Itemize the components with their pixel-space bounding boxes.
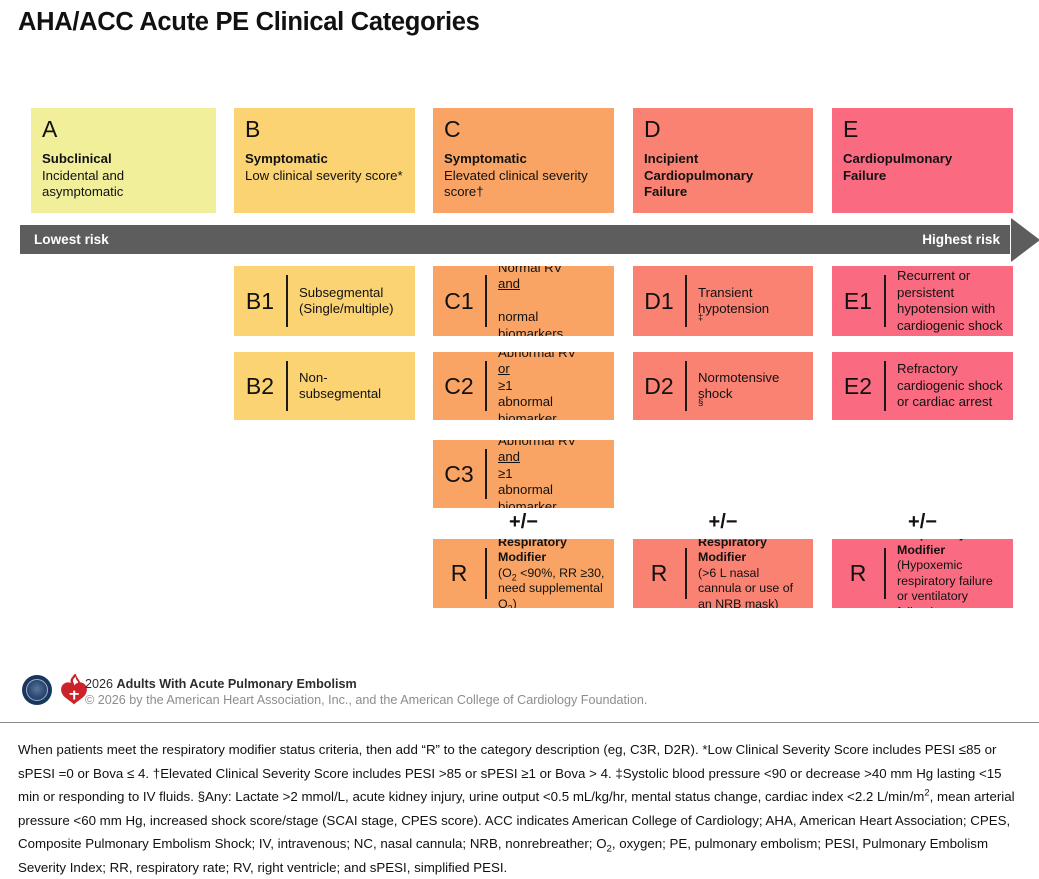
subcategory-text-c2: Abnormal RV or ≥1abnormal biomarker	[487, 352, 614, 420]
subcategory-c3: C3 Abnormal RV and ≥1abnormal biomarker	[433, 440, 614, 508]
category-sub-a: Incidental and asymptomatic	[42, 168, 205, 201]
subcategory-text-e1: Recurrent orpersistenthypotension withca…	[886, 266, 1013, 336]
category-letter-e: E	[843, 117, 1002, 142]
respiratory-modifier-d: R Respiratory Modifier (>6 L nasal cannu…	[633, 539, 813, 608]
subcategory-text-e2: Refractorycardiogenic shockor cardiac ar…	[886, 352, 1013, 420]
subcategory-code-e2: E2	[832, 352, 884, 420]
subcategory-c2: C2 Abnormal RV or ≥1abnormal biomarker	[433, 352, 614, 420]
page-title: AHA/ACC Acute PE Clinical Categories	[18, 8, 480, 37]
modifier-detail-d: (>6 L nasal cannula or use of an NRB mas…	[698, 566, 805, 608]
category-card-c: C Symptomatic Elevated clinical severity…	[433, 108, 614, 213]
subcategory-c1: C1 Normal RV andnormal biomarkers	[433, 266, 614, 336]
subcategory-text-b2: Non-subsegmental	[288, 352, 415, 420]
subcategory-e2: E2 Refractorycardiogenic shockor cardiac…	[832, 352, 1013, 420]
modifier-code-d: R	[633, 539, 685, 608]
risk-label-lowest: Lowest risk	[20, 225, 109, 254]
risk-gradient-arrow: Lowest risk Highest risk	[20, 225, 1010, 254]
category-heading-c: Symptomatic	[444, 151, 603, 168]
modifier-text-d: Respiratory Modifier (>6 L nasal cannula…	[687, 539, 813, 608]
subcategory-b1: B1 Subsegmental(Single/multiple)	[234, 266, 415, 336]
plus-minus-c: +/−	[433, 511, 614, 533]
subcategory-code-c1: C1	[433, 266, 485, 336]
modifier-code-c: R	[433, 539, 485, 608]
modifier-detail-e: (Hypoxemic respiratory failure or ventil…	[897, 558, 1005, 608]
category-heading-d: Incipient Cardiopulmonary Failure	[644, 151, 764, 201]
modifier-code-e: R	[832, 539, 884, 608]
category-heading-a: Subclinical	[42, 151, 205, 168]
category-sub-c: Elevated clinical severity score†	[444, 168, 603, 201]
subcategory-text-c1: Normal RV andnormal biomarkers	[487, 266, 614, 336]
category-card-a: A Subclinical Incidental and asymptomati…	[31, 108, 216, 213]
category-sub-b: Low clinical severity score*	[245, 168, 404, 185]
footer-text: 2026 Adults With Acute Pulmonary Embolis…	[85, 676, 647, 708]
footer-logos	[22, 673, 92, 707]
subcategory-d1: D1 Transienthypotension‡	[633, 266, 813, 336]
modifier-title-c: Respiratory Modifier	[498, 539, 606, 566]
footnotes: When patients meet the respiratory modif…	[18, 738, 1023, 879]
subcategory-code-c3: C3	[433, 440, 485, 508]
modifier-text-e: Respiratory Modifier (Hypoxemic respirat…	[886, 539, 1013, 608]
aha-heart-torch-logo-icon	[60, 674, 88, 711]
respiratory-modifier-e: R Respiratory Modifier (Hypoxemic respir…	[832, 539, 1013, 608]
footer-year: 2026	[85, 677, 113, 691]
footer-copyright: © 2026 by the American Heart Association…	[85, 692, 647, 708]
category-card-d: D Incipient Cardiopulmonary Failure	[633, 108, 813, 213]
modifier-detail-c: (O2 <90%, RR ≥30, need supplemental O2)	[498, 566, 606, 608]
plus-minus-d: +/−	[633, 511, 813, 533]
footer-document-title: Adults With Acute Pulmonary Embolism	[117, 677, 357, 691]
subcategory-code-e1: E1	[832, 266, 884, 336]
category-heading-b: Symptomatic	[245, 151, 404, 168]
category-letter-b: B	[245, 117, 404, 142]
subcategory-b2: B2 Non-subsegmental	[234, 352, 415, 420]
subcategory-code-d2: D2	[633, 352, 685, 420]
risk-arrow-head-icon	[1011, 218, 1039, 262]
footer-divider	[0, 722, 1039, 723]
subcategory-code-b1: B1	[234, 266, 286, 336]
respiratory-modifier-c: R Respiratory Modifier (O2 <90%, RR ≥30,…	[433, 539, 614, 608]
footer-document-line: 2026 Adults With Acute Pulmonary Embolis…	[85, 676, 647, 692]
modifier-title-e: Respiratory Modifier	[897, 539, 1005, 558]
category-letter-d: D	[644, 117, 802, 142]
category-heading-e: Cardiopulmonary Failure	[843, 151, 973, 184]
category-letter-a: A	[42, 117, 205, 142]
subcategory-text-d1: Transienthypotension‡	[687, 266, 813, 336]
subcategory-text-c3: Abnormal RV and ≥1abnormal biomarker	[487, 440, 614, 508]
acc-seal-logo-icon	[22, 675, 52, 705]
subcategory-e1: E1 Recurrent orpersistenthypotension wit…	[832, 266, 1013, 336]
category-letter-c: C	[444, 117, 603, 142]
subcategory-text-d2: Normotensiveshock§	[687, 352, 813, 420]
modifier-title-d: Respiratory Modifier	[698, 539, 805, 566]
subcategory-text-b1: Subsegmental(Single/multiple)	[288, 266, 415, 336]
category-card-b: B Symptomatic Low clinical severity scor…	[234, 108, 415, 213]
plus-minus-e: +/−	[832, 511, 1013, 533]
subcategory-d2: D2 Normotensiveshock§	[633, 352, 813, 420]
subcategory-code-b2: B2	[234, 352, 286, 420]
risk-label-highest: Highest risk	[922, 225, 1010, 254]
subcategory-code-d1: D1	[633, 266, 685, 336]
subcategory-code-c2: C2	[433, 352, 485, 420]
category-card-e: E Cardiopulmonary Failure	[832, 108, 1013, 213]
modifier-text-c: Respiratory Modifier (O2 <90%, RR ≥30, n…	[487, 539, 614, 608]
